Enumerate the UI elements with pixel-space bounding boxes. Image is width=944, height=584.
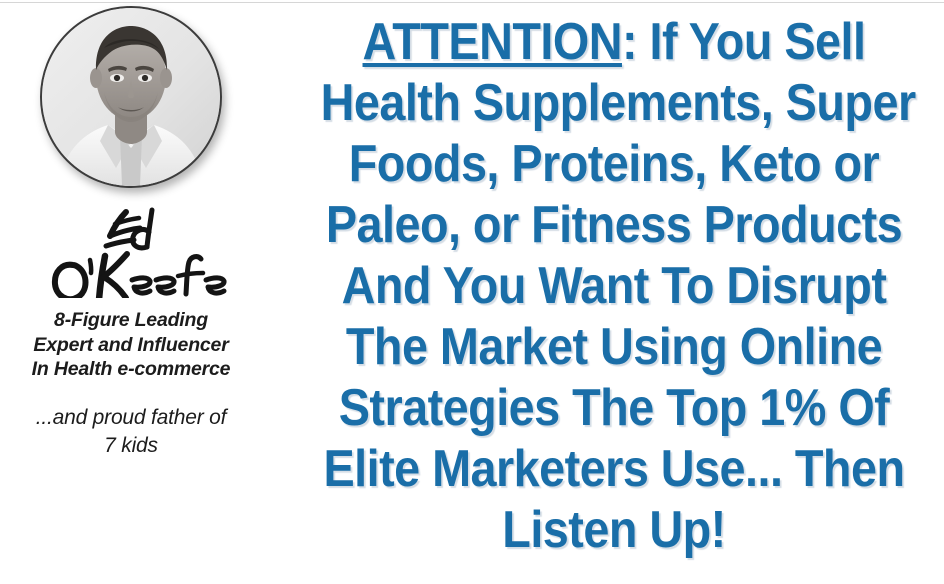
top-divider	[0, 2, 944, 3]
headline-line-9: Listen Up!	[321, 500, 908, 561]
avatar	[40, 6, 222, 188]
profile-tagline-primary: 8-Figure Leading Expert and Influencer I…	[31, 308, 231, 382]
portrait-photo	[40, 6, 222, 188]
headline-line-6: The Market Using Online	[321, 317, 908, 378]
signature-ed-okeefe	[26, 202, 236, 298]
headline-line-2: Health Supplements, Super	[321, 73, 908, 134]
profile-tagline-secondary: ...and proud father of 7 kids	[31, 404, 231, 460]
headline-line-3: Foods, Proteins, Keto or	[321, 134, 908, 195]
headline-line-1-rest: : If You Sell	[622, 13, 865, 71]
headline-line-4: Paleo, or Fitness Products	[321, 195, 908, 256]
promo-page: 8-Figure Leading Expert and Influencer I…	[0, 0, 944, 584]
profile-column: 8-Figure Leading Expert and Influencer I…	[0, 6, 262, 584]
signature-graphic	[26, 202, 236, 298]
headline-line-1: ATTENTION: If You Sell	[321, 12, 908, 73]
headline-line-8: Elite Marketers Use... Then	[321, 439, 908, 500]
portrait-illustration	[42, 8, 220, 186]
headline-line-7: Strategies The Top 1% Of	[321, 378, 908, 439]
headline-emphasis: ATTENTION	[363, 13, 622, 71]
page-headline: ATTENTION: If You Sell Health Supplement…	[321, 12, 908, 561]
headline-line-5: And You Want To Disrupt	[321, 256, 908, 317]
